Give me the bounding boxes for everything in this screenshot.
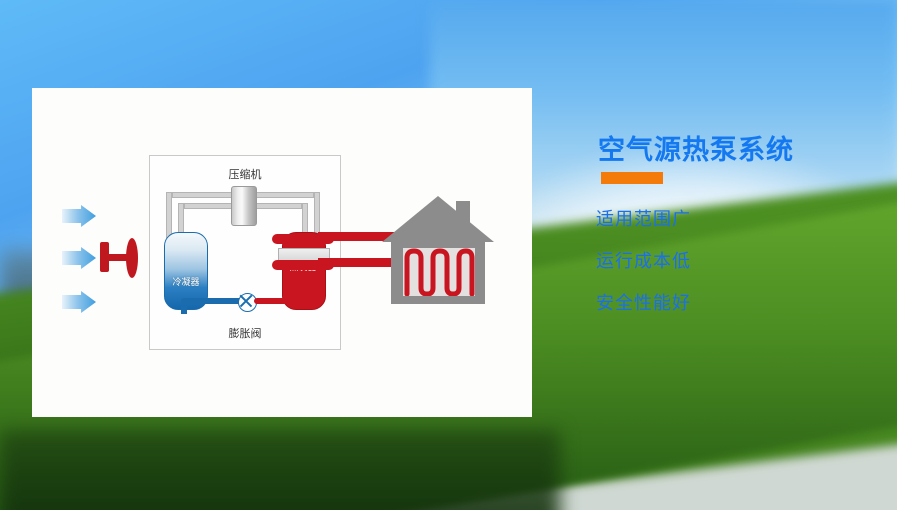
feature-item-1: 适用范围广	[596, 205, 691, 231]
house-illustration	[382, 196, 494, 304]
house-roof	[382, 196, 494, 242]
gas-pipe-outer-right	[254, 192, 314, 198]
refrigeration-cycle-panel: 压缩机 冷凝器 蒸发器 膨胀阀	[149, 155, 341, 350]
title-accent-bar	[601, 172, 663, 184]
liquid-line-horizontal	[181, 298, 243, 304]
hot-line-to-evaporator	[254, 298, 312, 304]
gas-pipe-top-left	[184, 203, 232, 209]
compressor-label: 压缩机	[150, 166, 340, 182]
grass-shadow	[0, 430, 560, 510]
airflow-arrow-1	[62, 205, 96, 227]
feature-item-3: 安全性能好	[596, 289, 691, 315]
airflow-arrow-3	[62, 291, 96, 313]
hot-line-riser	[306, 274, 312, 302]
expansion-valve-label: 膨胀阀	[150, 325, 340, 341]
fan-icon	[100, 238, 140, 278]
airflow-arrow-2	[62, 247, 96, 269]
compressor-body	[231, 186, 257, 226]
floor-heating-coil-icon	[403, 248, 475, 296]
gas-riser-left	[166, 192, 172, 238]
liquid-line-drop	[181, 306, 187, 314]
feature-list: 适用范围广 运行成本低 安全性能好	[596, 205, 691, 331]
slide-canvas: 压缩机 冷凝器 蒸发器 膨胀阀	[0, 0, 897, 510]
gas-pipe-outer-left	[172, 192, 232, 198]
feature-item-2: 运行成本低	[596, 247, 691, 273]
page-title: 空气源热泵系统	[598, 128, 794, 167]
gas-pipe-top-right	[254, 203, 302, 209]
condenser-label: 冷凝器	[165, 275, 207, 288]
house-chimney	[456, 201, 470, 237]
